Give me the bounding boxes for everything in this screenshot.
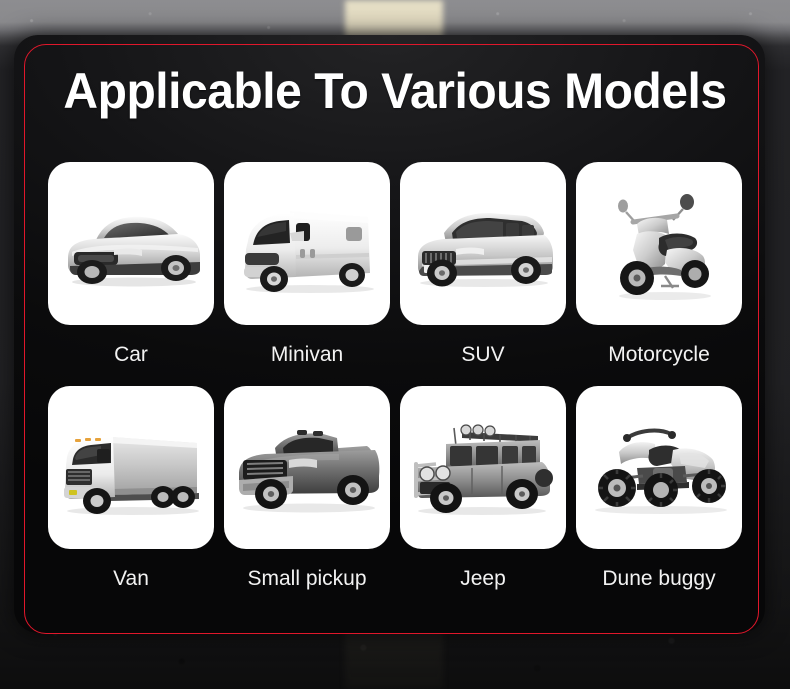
grid-item-car[interactable]: Car [48,162,214,385]
vehicle-card[interactable] [576,162,742,325]
vehicle-label: Dune buggy [576,549,742,609]
vehicle-label: Minivan [224,325,390,385]
scooter-icon [603,182,715,306]
vehicle-card[interactable] [400,386,566,549]
grid-item-small-pickup[interactable]: Small pickup [224,386,390,609]
vehicle-card[interactable] [48,162,214,325]
vehicle-card[interactable] [224,386,390,549]
vehicle-label: Small pickup [224,549,390,609]
vehicle-label: Car [48,325,214,385]
grid-item-minivan[interactable]: Minivan [224,162,390,385]
cargo-van-icon [234,191,380,297]
banner-image: Applicable To Various Models [0,0,790,689]
vehicle-card[interactable] [48,386,214,549]
vehicle-label: Jeep [400,549,566,609]
grid-item-suv[interactable]: SUV [400,162,566,385]
sports-car-icon [58,196,204,292]
vehicle-label: SUV [400,325,566,385]
vehicle-card[interactable] [400,162,566,325]
box-truck-icon [57,415,205,521]
atv-quad-bike-icon [585,416,733,520]
page-title: Applicable To Various Models [16,66,774,116]
vehicle-card[interactable] [224,162,390,325]
grid-item-van[interactable]: Van [48,386,214,609]
grid-item-motorcycle[interactable]: Motorcycle [576,162,742,385]
offroad-jeep-icon [410,416,556,520]
grid-item-jeep[interactable]: Jeep [400,386,566,609]
pickup-truck-icon [233,416,381,520]
vehicle-label: Van [48,549,214,609]
vehicle-grid: Car [48,162,742,609]
vehicle-card[interactable] [576,386,742,549]
grid-item-dune-buggy[interactable]: Dune buggy [576,386,742,609]
vehicle-label: Motorcycle [576,325,742,385]
suv-wagon-icon [410,195,556,293]
